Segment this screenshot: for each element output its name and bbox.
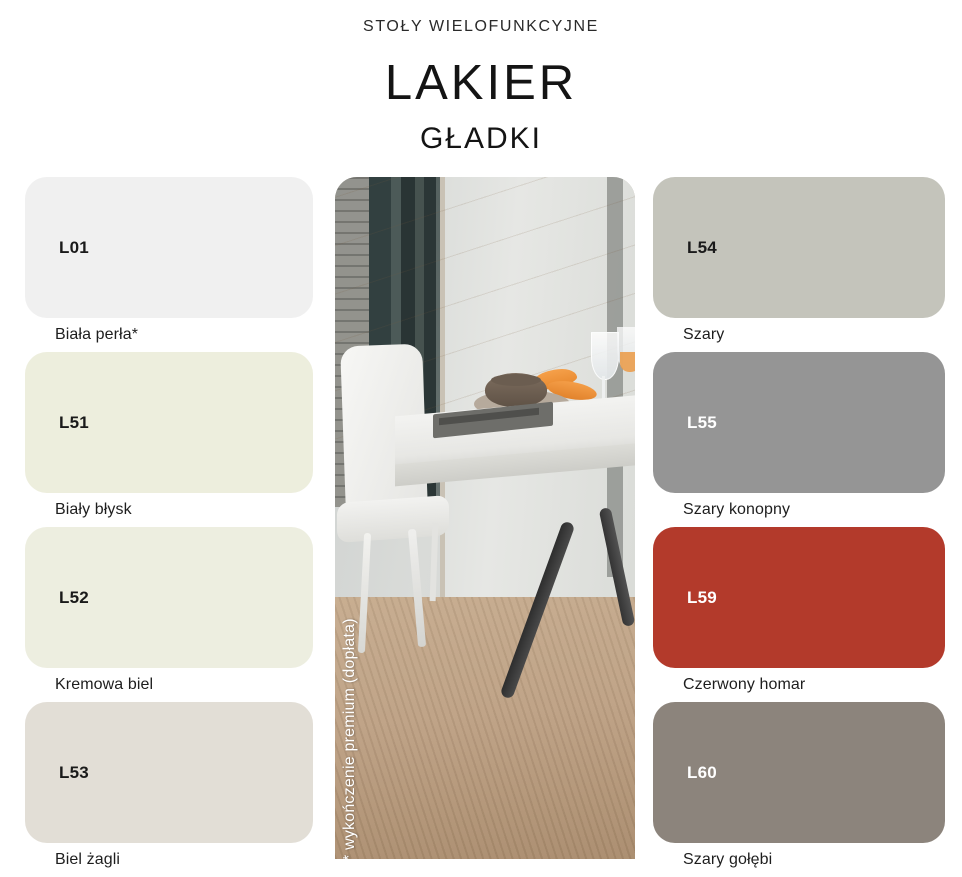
swatch-label-l54: Szary	[653, 318, 945, 343]
swatch-chip-l52[interactable]: L52	[25, 527, 313, 668]
color-palette-page: STOŁY WIELOFUNKCYJNE LAKIER GŁADKI L01 B…	[0, 0, 962, 859]
photo-bowl-rim	[491, 374, 541, 386]
swatch-code-l59: L59	[687, 588, 717, 608]
swatch-label-l55: Szary konopny	[653, 493, 945, 518]
photo-floor	[335, 597, 635, 859]
swatch-label-l59: Czerwony homar	[653, 668, 945, 693]
swatch-code-l60: L60	[687, 763, 717, 783]
premium-finish-note: * wykończenie premium (dopłata)	[341, 539, 359, 859]
page-header: STOŁY WIELOFUNKCYJNE LAKIER GŁADKI	[0, 0, 962, 154]
swatch-code-l52: L52	[59, 588, 89, 608]
swatch-chip-l01[interactable]: L01	[25, 177, 313, 318]
swatch-chip-l59[interactable]: L59	[653, 527, 945, 668]
swatch-chip-l54[interactable]: L54	[653, 177, 945, 318]
swatch-label-l53: Biel żagli	[25, 843, 313, 868]
swatch-code-l53: L53	[59, 763, 89, 783]
swatch-chip-l55[interactable]: L55	[653, 352, 945, 493]
swatch-label-l01: Biała perła*	[25, 318, 313, 343]
swatch-code-l54: L54	[687, 238, 717, 258]
swatch-column-left: L01 Biała perła* L51 Biały błysk L52 Kre…	[25, 177, 313, 877]
swatch-item-l54[interactable]: L54 Szary	[653, 177, 945, 343]
swatch-code-l01: L01	[59, 238, 89, 258]
swatch-label-l52: Kremowa biel	[25, 668, 313, 693]
swatch-column-right: L54 Szary L55 Szary konopny L59 Czerwony…	[653, 177, 945, 877]
page-subtitle: GŁADKI	[0, 124, 962, 154]
photo-artwork	[335, 177, 635, 859]
swatch-item-l52[interactable]: L52 Kremowa biel	[25, 527, 313, 693]
swatch-item-l59[interactable]: L59 Czerwony homar	[653, 527, 945, 693]
swatch-chip-l51[interactable]: L51	[25, 352, 313, 493]
page-title: LAKIER	[0, 59, 962, 108]
swatch-chip-l60[interactable]: L60	[653, 702, 945, 843]
header-eyebrow: STOŁY WIELOFUNKCYJNE	[0, 19, 962, 35]
swatch-item-l60[interactable]: L60 Szary gołębi	[653, 702, 945, 868]
swatch-item-l53[interactable]: L53 Biel żagli	[25, 702, 313, 868]
photo-wine-glass	[591, 332, 619, 380]
swatch-label-l51: Biały błysk	[25, 493, 313, 518]
swatch-item-l55[interactable]: L55 Szary konopny	[653, 352, 945, 518]
swatch-item-l51[interactable]: L51 Biały błysk	[25, 352, 313, 518]
swatch-code-l51: L51	[59, 413, 89, 433]
swatch-chip-l53[interactable]: L53	[25, 702, 313, 843]
lifestyle-photo: * wykończenie premium (dopłata)	[335, 177, 635, 859]
photo-juice	[620, 352, 635, 372]
swatch-label-l60: Szary gołębi	[653, 843, 945, 868]
swatch-item-l01[interactable]: L01 Biała perła*	[25, 177, 313, 343]
swatch-code-l55: L55	[687, 413, 717, 433]
